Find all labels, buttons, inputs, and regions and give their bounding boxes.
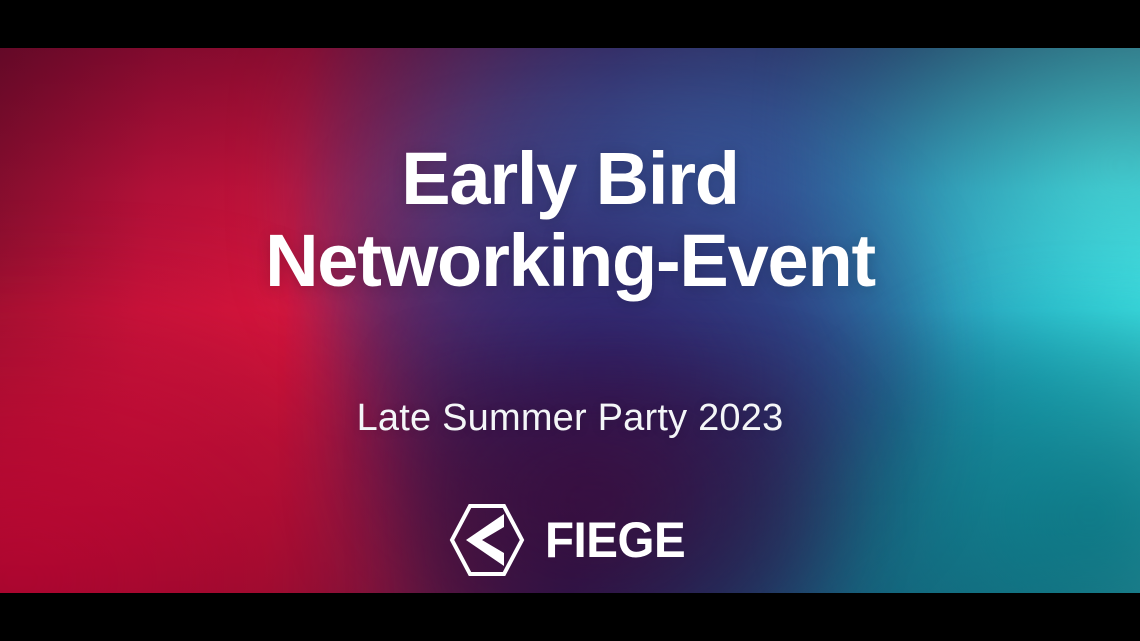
headline-line-2: Networking-Event	[0, 220, 1140, 302]
slide-frame: Early Bird Networking-Event Late Summer …	[0, 0, 1140, 641]
fiege-hexagon-chevron-icon	[448, 502, 526, 578]
hexagon-outline-icon	[452, 506, 522, 574]
brand-wordmark: FIEGE	[545, 515, 685, 565]
letterbox-bar-top	[0, 0, 1140, 48]
brand-lockup: FIEGE	[448, 502, 693, 578]
chevron-left-icon	[466, 514, 504, 566]
subtitle: Late Summer Party 2023	[0, 396, 1140, 440]
page-title: Early Bird Networking-Event	[0, 138, 1140, 302]
letterbox-bar-bottom	[0, 593, 1140, 641]
headline-line-1: Early Bird	[0, 138, 1140, 220]
slide-content: Early Bird Networking-Event Late Summer …	[0, 0, 1140, 641]
